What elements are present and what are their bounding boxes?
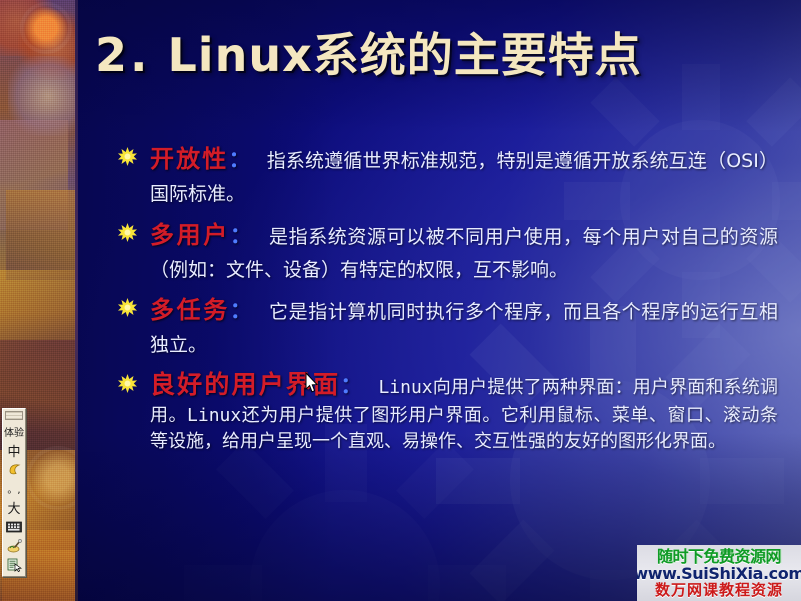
list-item-heading: 开放性 xyxy=(150,145,228,173)
list-item-colon: ： xyxy=(340,374,362,399)
ime-moon-icon[interactable] xyxy=(4,460,24,479)
starburst-bullet-icon xyxy=(118,374,137,393)
starburst-bullet-icon xyxy=(118,223,137,242)
list-item-colon: ： xyxy=(228,148,250,173)
ime-fullwidth-mode-button[interactable]: 大 xyxy=(4,498,24,517)
ime-punctuation-mode-button[interactable]: 。, xyxy=(4,479,24,498)
title-number: 2. xyxy=(95,28,150,82)
list-item-colon: ： xyxy=(230,299,253,324)
list-item-heading: 多用户 xyxy=(150,221,230,249)
watermark-line-2: www.SuiShiXia.com xyxy=(637,566,801,582)
list-item: 多用户：是指系统资源可以被不同用户使用，每个用户对自己的资源（例如：文件、设备）… xyxy=(118,216,778,286)
list-item: 开放性：指系统遵循世界标准规范，特别是遵循开放系统互连（OSI）国际标准。 xyxy=(118,140,778,210)
starburst-bullet-icon xyxy=(118,147,137,166)
list-item-heading: 多任务 xyxy=(150,296,230,324)
ime-toolbar[interactable]: 体验 中 。, 大 xyxy=(2,408,26,577)
starburst-bullet-icon xyxy=(118,298,137,317)
watermark-line-3: 数万网课教程资源 xyxy=(655,583,783,598)
watermark: 随时下免费资源网 www.SuiShiXia.com 数万网课教程资源 xyxy=(637,545,801,601)
ime-drag-handle[interactable] xyxy=(5,411,23,420)
list-item-colon: ： xyxy=(230,224,253,249)
page-title: 2. Linux系统的主要特点 xyxy=(95,31,642,79)
pen-icon[interactable] xyxy=(4,536,24,555)
list-item-text: 开放性：指系统遵循世界标准规范，特别是遵循开放系统互连（OSI）国际标准。 xyxy=(150,140,778,210)
slide-body: 开放性：指系统遵循世界标准规范，特别是遵循开放系统互连（OSI）国际标准。 多用… xyxy=(118,140,778,461)
title-text: Linux系统的主要特点 xyxy=(168,28,642,82)
ime-language-mode-button[interactable]: 中 xyxy=(4,441,24,460)
list-item-text: 多用户：是指系统资源可以被不同用户使用，每个用户对自己的资源（例如：文件、设备）… xyxy=(150,216,778,286)
presentation-slide: 2. Linux系统的主要特点 开放性：指系统遵循世界标准规范，特别是遵循开放系… xyxy=(0,0,801,601)
mouse-pointer-icon xyxy=(305,372,319,393)
keyboard-icon[interactable] xyxy=(4,517,24,536)
list-item: 良好的用户界面：Linux向用户提供了两种界面：用户界面和系统调用。Linux还… xyxy=(118,367,778,455)
watermark-line-1: 随时下免费资源网 xyxy=(657,549,781,565)
ime-status-label[interactable]: 体验 xyxy=(4,422,24,441)
list-item-text: 多任务：它是指计算机同时执行多个程序，而且各个程序的运行互相独立。 xyxy=(150,291,778,361)
soft-keyboard-icon[interactable] xyxy=(4,555,24,574)
list-item: 多任务：它是指计算机同时执行多个程序，而且各个程序的运行互相独立。 xyxy=(118,291,778,361)
list-item-text: 良好的用户界面：Linux向用户提供了两种界面：用户界面和系统调用。Linux还… xyxy=(150,367,778,455)
